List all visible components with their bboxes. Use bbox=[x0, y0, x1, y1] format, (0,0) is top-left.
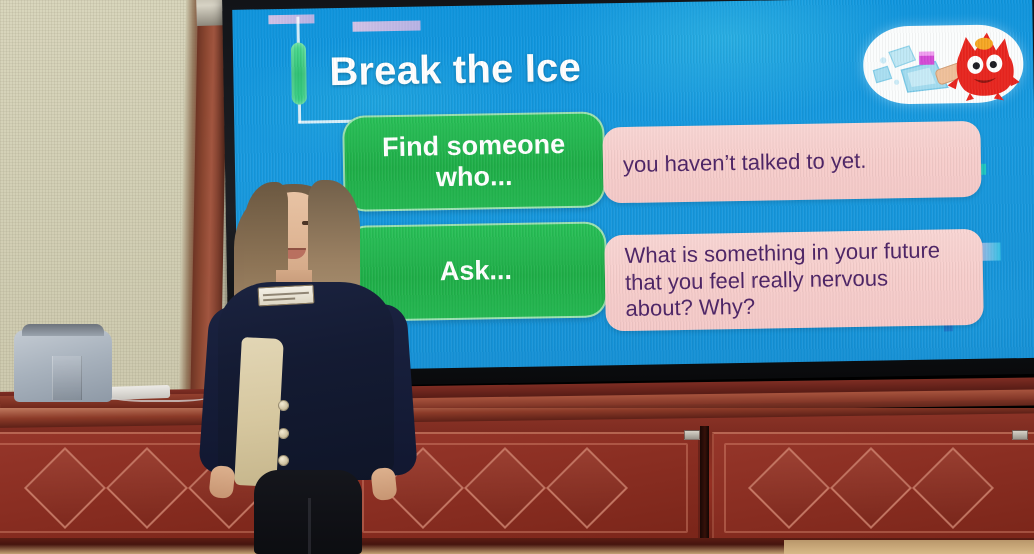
deco-chip-icon bbox=[352, 21, 420, 32]
hand-right bbox=[370, 467, 397, 501]
presenter bbox=[196, 178, 426, 554]
badge-text-line bbox=[263, 292, 309, 296]
bag-pocket bbox=[52, 356, 82, 400]
classroom-scene: Break the Ice bbox=[0, 0, 1034, 554]
garment-side-panel bbox=[234, 337, 284, 487]
cabinet-latch bbox=[684, 430, 700, 440]
answer-line: you haven’t talked to yet. bbox=[623, 147, 867, 178]
answer-line: What is something in your future bbox=[624, 237, 940, 269]
gray-bag bbox=[14, 330, 112, 402]
answer-line: about? Why? bbox=[625, 291, 941, 323]
wood-paneling bbox=[0, 408, 1034, 554]
name-badge bbox=[258, 285, 315, 307]
slide-title: Break the Ice bbox=[329, 46, 581, 95]
floor-wood bbox=[784, 540, 1034, 554]
cabinet-latch bbox=[1012, 430, 1028, 440]
garment-button bbox=[278, 428, 289, 439]
badge-text-line bbox=[263, 298, 295, 302]
connector-pill-icon bbox=[291, 43, 307, 105]
mascot-red-monster-icon bbox=[863, 24, 1024, 105]
wood-panel bbox=[712, 432, 1034, 544]
deco-chip-icon bbox=[268, 14, 314, 24]
leg-separation bbox=[308, 498, 311, 554]
wood-top-rail bbox=[0, 408, 1034, 428]
answer-box-find-someone: you haven’t talked to yet. bbox=[602, 121, 981, 204]
answer-box-ask: What is something in your future that yo… bbox=[604, 229, 984, 332]
garment-button bbox=[278, 455, 289, 466]
panel-divider bbox=[700, 426, 709, 550]
mascot-illustration-icon bbox=[863, 24, 1024, 105]
garment-button bbox=[278, 400, 289, 411]
connector-line-horizontal bbox=[298, 120, 352, 124]
hand-left bbox=[208, 465, 235, 499]
